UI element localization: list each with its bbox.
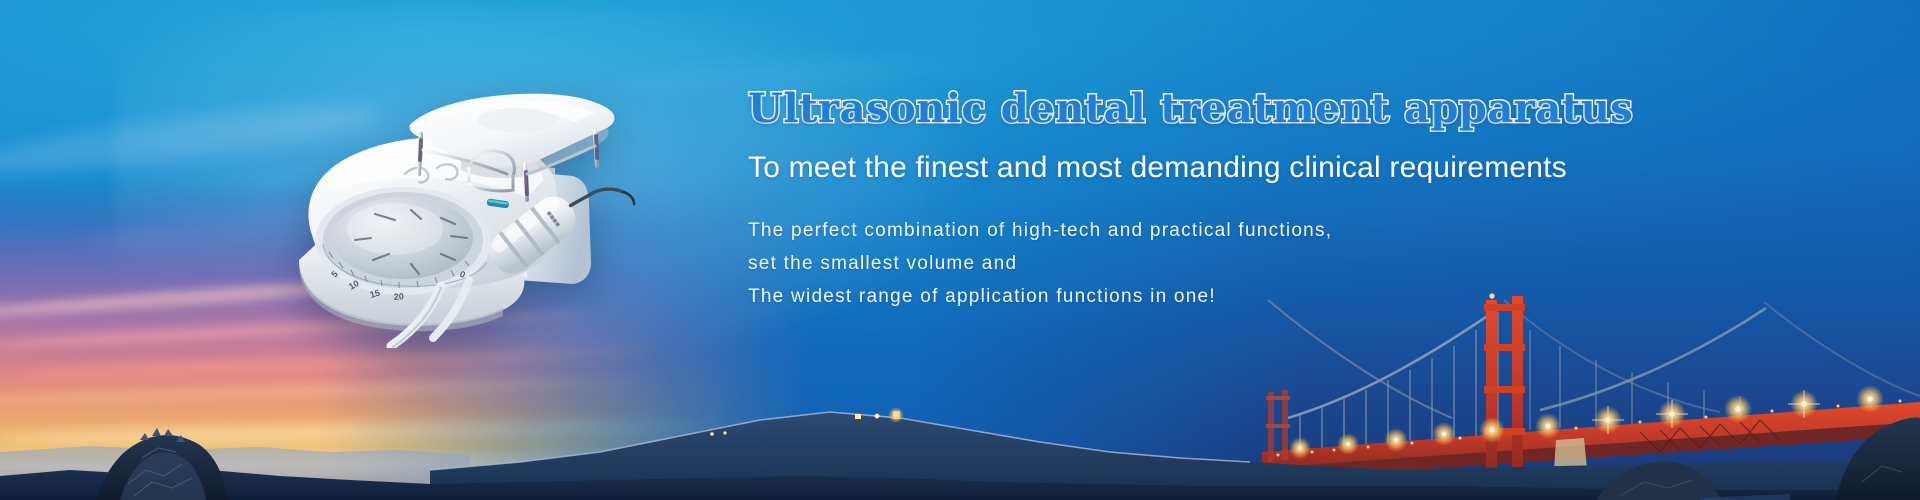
- ultrasonic-dental-scaler: 20 15 10 5 0: [255, 48, 675, 348]
- body-line: The widest range of application function…: [748, 280, 1648, 313]
- body-line: The perfect combination of high-tech and…: [748, 214, 1648, 247]
- body-line: set the smallest volume and: [748, 247, 1648, 280]
- promo-banner: 20 15 10 5 0: [0, 0, 1920, 500]
- banner-subtitle: To meet the finest and most demanding cl…: [748, 150, 1648, 186]
- dial-label: 20: [393, 291, 404, 302]
- banner-copy: Ultrasonic dental treatment apparatus To…: [748, 86, 1648, 313]
- page-title: Ultrasonic dental treatment apparatus: [748, 86, 1648, 132]
- banner-body: The perfect combination of high-tech and…: [748, 214, 1648, 313]
- foreground-rock: [96, 428, 228, 500]
